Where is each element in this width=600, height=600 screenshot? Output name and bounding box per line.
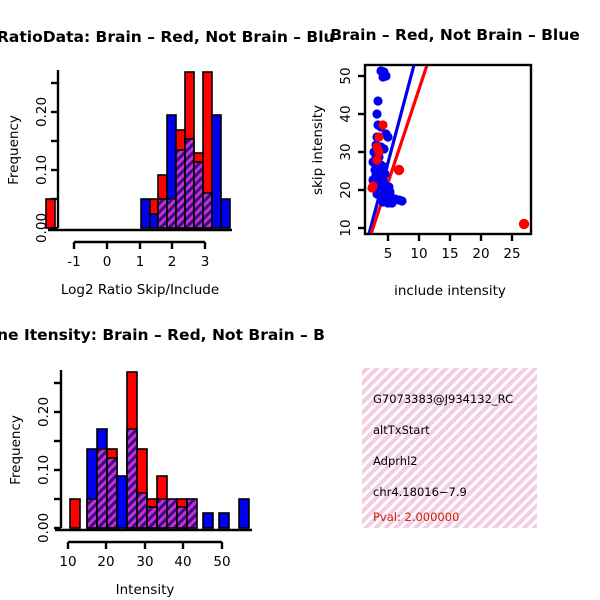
ratio-x-tick-label: 3 [201,254,210,270]
bar-overlap [107,458,117,528]
bar-blue [117,476,127,528]
multi-panel-figure: RatioData: Brain – Red, Not Brain – Blu [0,0,600,600]
info-line-event-type: altTxStart [373,423,430,437]
bar-overlap [158,199,167,228]
ratio-y-axis-label: Frequency [6,115,22,185]
bar-overlap [167,199,176,228]
ratio-y-tick-label: 0.10 [34,155,50,185]
gene-x-tick-label: 10 [59,554,76,570]
scatter-y-axis-label: skip intensity [310,105,326,195]
bar-blue [203,513,213,528]
scatter-x-tick-label: 25 [503,246,520,262]
bar-overlap [157,499,167,528]
bar-red [70,499,80,528]
bar-overlap [147,507,157,528]
scatter-x-tick-label: 10 [410,246,427,262]
gene-x-tick-label: 20 [97,554,114,570]
bar-overlap [194,162,203,228]
bar-overlap [185,139,194,228]
gene-x-tick-label: 30 [136,554,153,570]
bar-overlap [87,499,97,528]
bar-overlap [97,449,107,528]
ratio-y-tick-label: 0.00 [34,213,50,243]
bar-red [158,175,167,199]
bar-red [150,199,158,214]
scatter-y-tick-label: 30 [338,143,354,160]
gene-intensity-title: ne Itensity: Brain – Red, Not Brain – B [0,326,325,344]
ratio-histogram-title: RatioData: Brain – Red, Not Brain – Blu [0,28,335,46]
bar-blue [141,199,150,228]
bar-blue [150,214,158,228]
ratio-x-axis-label: Log2 Ratio Skip/Include [61,282,219,298]
ratio-x-tick-label: 1 [136,254,145,270]
bar-overlap [137,493,147,528]
bar-blue [239,499,249,528]
info-line-locus: chr4.18016−7.9 [373,485,467,499]
bar-overlap [127,429,137,528]
ratio-y-tick-label: 0.20 [34,97,50,127]
panel-info-box: G7073383@J934132_RC altTxStart Adprhl2 c… [362,368,537,528]
scatter-x-axis-label: include intensity [394,283,506,299]
scatter-y-tick-label: 10 [338,219,354,236]
scatter-y-tick-label: 40 [338,105,354,122]
gene-y-tick-label: 0.20 [36,397,52,427]
gene-y-tick-label: 0.10 [36,455,52,485]
ratio-x-tick-label: -1 [67,254,80,270]
scatter-x-tick-label: 20 [472,246,489,262]
gene-x-tick-label: 50 [213,554,230,570]
gene-x-axis-label: Intensity [116,582,175,598]
scatter-x-tick-label: 15 [441,246,458,262]
ratio-x-tick-label: 2 [168,254,177,270]
bar-blue [212,115,221,228]
scatter-x-tick-label: 5 [384,246,393,262]
gene-y-axis-label: Frequency [8,415,24,485]
scatter-title: Brain – Red, Not Brain – Blue [330,26,580,44]
gene-x-tick-label: 40 [174,554,191,570]
bar-overlap [177,507,187,528]
ratio-x-tick-label: 0 [103,254,112,270]
info-line-probe-id: G7073383@J934132_RC [373,392,513,406]
scatter-y-tick-label: 20 [338,181,354,198]
bar-blue [219,513,229,528]
bar-overlap [187,499,197,528]
bar-blue [221,199,230,228]
bar-overlap [176,150,185,228]
bar-overlap [203,193,212,228]
info-line-gene-symbol: Adprhl2 [373,454,418,468]
bar-overlap [167,499,177,528]
gene-y-tick-label: 0.00 [36,513,52,543]
info-line-pval: Pval: 2.000000 [373,510,459,524]
scatter-y-tick-label: 50 [338,67,354,84]
